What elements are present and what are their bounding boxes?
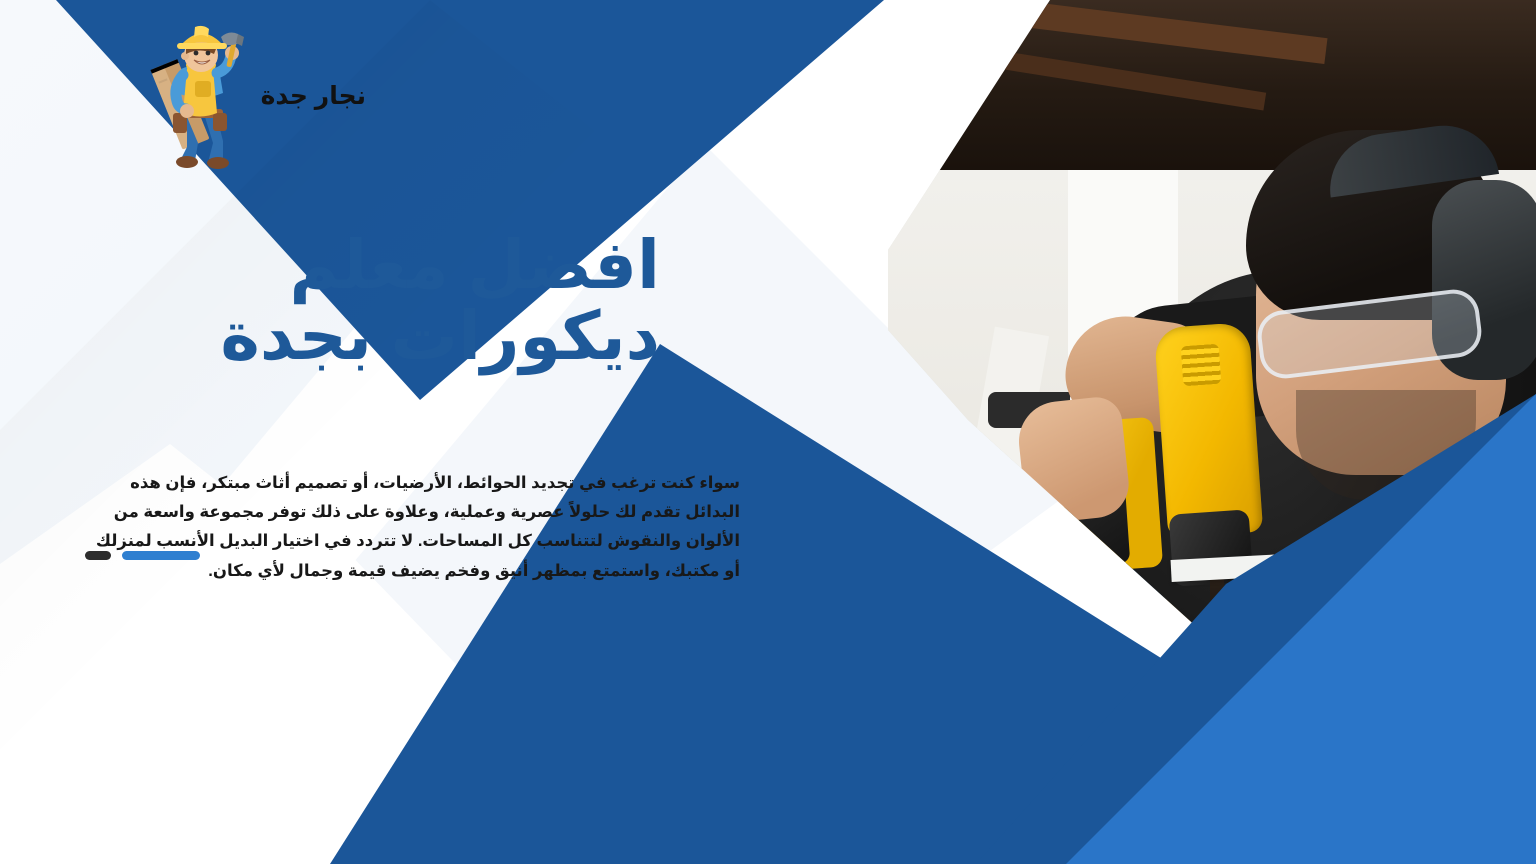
accent-bar-secondary <box>85 551 111 560</box>
accent-bars <box>85 551 200 560</box>
accent-bar-primary <box>122 551 200 560</box>
drill-vents <box>1181 344 1222 387</box>
ceiling-beam-icon <box>879 0 967 140</box>
brand-name: نجار جدة <box>261 81 366 111</box>
brand-logo[interactable]: نجار جدة <box>105 18 370 173</box>
body-paragraph: سواء كنت ترغب في تجديد الحوائط، الأرضيات… <box>90 469 740 586</box>
banner-canvas: نجار جدة <box>0 0 1536 864</box>
page-title: افضل معلم ديكورات بجدة <box>20 230 660 372</box>
carpenter-mascot-icon <box>143 21 255 171</box>
